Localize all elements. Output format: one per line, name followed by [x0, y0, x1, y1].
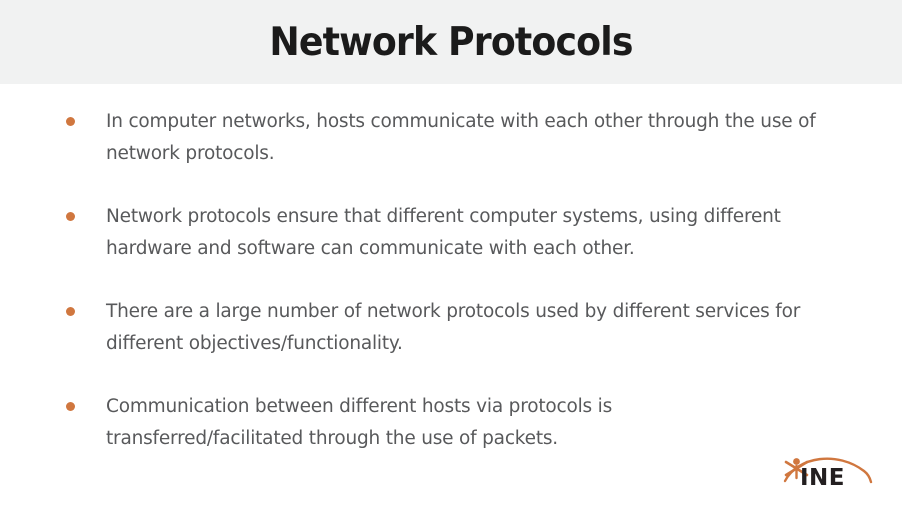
bullet-list: In computer networks, hosts communicate … [66, 106, 866, 455]
logo-figure-head-icon [793, 458, 800, 465]
bullet-dot-icon [66, 307, 75, 316]
ine-logo: INE [776, 448, 876, 492]
slide: Network Protocols In computer networks, … [0, 0, 902, 506]
list-item-text: There are a large number of network prot… [106, 296, 854, 360]
list-item: Network protocols ensure that different … [66, 201, 866, 265]
list-item-text: In computer networks, hosts communicate … [106, 106, 834, 170]
list-item-text: Network protocols ensure that different … [106, 201, 796, 265]
list-item-text: Communication between different hosts vi… [106, 391, 686, 455]
logo-wordmark: INE [800, 465, 845, 491]
page-title: Network Protocols [32, 0, 871, 84]
list-item: In computer networks, hosts communicate … [66, 106, 866, 170]
list-item: There are a large number of network prot… [66, 296, 866, 360]
bullet-dot-icon [66, 117, 75, 126]
list-item: Communication between different hosts vi… [66, 391, 866, 455]
bullet-dot-icon [66, 402, 75, 411]
bullet-dot-icon [66, 212, 75, 221]
